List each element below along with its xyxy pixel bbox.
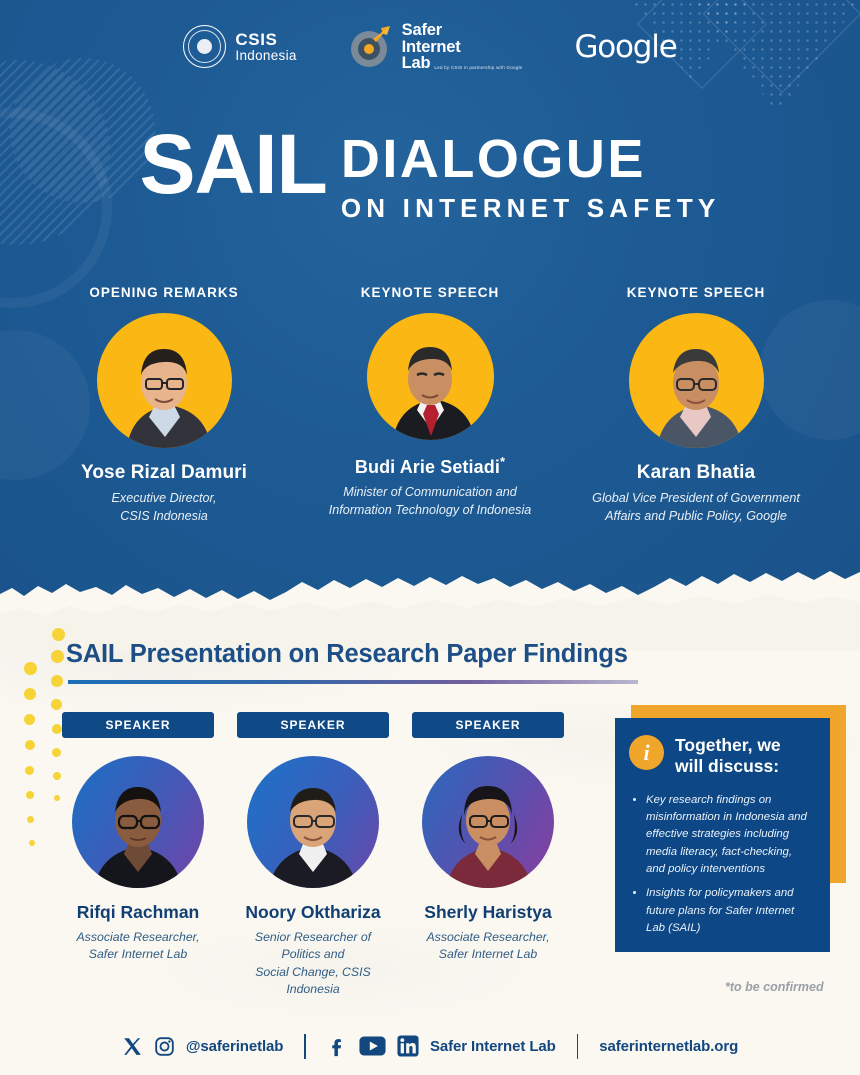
youtube-icon[interactable] [359, 1036, 386, 1056]
role-label: OPENING REMARKS [35, 285, 293, 300]
speaker-title: Global Vice President of Government Affa… [567, 490, 825, 526]
presentation-heading: SAIL Presentation on Research Paper Find… [66, 640, 628, 669]
panel-speaker-card-3: SPEAKER Sherly Haristya Associate Resear… [412, 712, 564, 999]
panel-speaker-title: Senior Researcher of Politics and Social… [237, 929, 389, 999]
discuss-bullet-list: Key research findings on misinformation … [633, 792, 814, 938]
target-arrow-icon [349, 25, 393, 69]
panel-speaker-title: Associate Researcher, Safer Internet Lab [62, 929, 214, 964]
footer-divider [304, 1034, 306, 1059]
sil-line3: Lab [402, 55, 431, 72]
csis-logo-line2: Indonesia [235, 49, 296, 63]
discuss-bullet: Key research findings on misinformation … [646, 792, 814, 879]
speaker-avatar [629, 313, 764, 448]
heading-underline [68, 680, 638, 684]
logo-row: CSIS Indonesia Safer Internet Lab Led by… [0, 22, 860, 72]
event-title: SAIL DIALOGUE ON INTERNET SAFETY [0, 126, 860, 221]
x-twitter-icon[interactable] [122, 1036, 143, 1057]
sil-line1: Safer [402, 22, 523, 39]
discuss-box: i Together, we will discuss: Key researc… [615, 718, 830, 952]
discuss-bullet: Insights for policymakers and future pla… [646, 885, 814, 937]
panel-speaker-name: Noory Okthariza [237, 902, 389, 923]
keynote-speaker-row: OPENING REMARKS Yose Rizal Damuri Execut… [0, 285, 860, 526]
title-tagline: ON INTERNET SAFETY [341, 195, 721, 221]
panel-speaker-name: Rifqi Rachman [62, 902, 214, 923]
social-handle: @saferinetlab [186, 1038, 284, 1055]
website-url[interactable]: saferinternetlab.org [599, 1038, 738, 1055]
speaker-name: Karan Bhatia [567, 462, 825, 484]
panel-speaker-row: SPEAKER Rifqi Rachman Associate Research… [62, 712, 564, 999]
speaker-avatar [97, 313, 232, 448]
speaker-badge: SPEAKER [62, 712, 214, 738]
safer-internet-lab-logo: Safer Internet Lab Led by CSIS in partne… [349, 22, 523, 72]
footer-divider-2 [577, 1034, 579, 1059]
panel-speaker-avatar [72, 756, 204, 888]
panel-speaker-avatar [422, 756, 554, 888]
footer-bar: @saferinetlab Safer Internet Lab saferin… [0, 1017, 860, 1075]
csis-seal-icon [183, 25, 226, 68]
panel-speaker-avatar [247, 756, 379, 888]
discuss-title: Together, we will discuss: [675, 735, 781, 778]
hero-section: CSIS Indonesia Safer Internet Lab Led by… [0, 0, 860, 625]
instagram-icon[interactable] [154, 1036, 175, 1057]
speaker-title: Executive Director, CSIS Indonesia [35, 490, 293, 526]
google-logo: Google [574, 29, 676, 65]
panel-speaker-card-2: SPEAKER Noory Okthariza Senior Researche… [237, 712, 389, 999]
footnote-to-be-confirmed: *to be confirmed [725, 980, 824, 994]
torn-paper-edge [0, 560, 860, 650]
info-icon: i [629, 735, 664, 770]
panel-speaker-card: SPEAKER Rifqi Rachman Associate Research… [62, 712, 214, 999]
panel-speaker-title: Associate Researcher, Safer Internet Lab [412, 929, 564, 964]
keynote-speaker-card-2: KEYNOTE SPEECH Budi Arie Setiadi* Minist… [301, 285, 559, 520]
speaker-title: Minister of Communication and Informatio… [301, 484, 559, 520]
title-sail: SAIL [140, 126, 327, 203]
speaker-badge: SPEAKER [412, 712, 564, 738]
yellow-dot-decoration [8, 628, 68, 878]
role-label: KEYNOTE SPEECH [301, 285, 559, 300]
title-dialogue: DIALOGUE [341, 132, 646, 186]
facebook-icon[interactable] [327, 1035, 348, 1058]
csis-logo-line1: CSIS [235, 31, 296, 49]
sil-line2: Internet [402, 39, 523, 56]
keynote-speaker-card-3: KEYNOTE SPEECH Karan Bhatia Global Vice … [567, 285, 825, 526]
page-name: Safer Internet Lab [430, 1038, 556, 1055]
speaker-name: Budi Arie Setiadi* [301, 454, 559, 478]
keynote-speaker-card: OPENING REMARKS Yose Rizal Damuri Execut… [35, 285, 293, 526]
role-label: KEYNOTE SPEECH [567, 285, 825, 300]
speaker-avatar [367, 313, 494, 440]
csis-logo: CSIS Indonesia [183, 25, 296, 68]
speaker-name: Yose Rizal Damuri [35, 462, 293, 484]
sil-fineprint: Led by CSIS in partnership with Google [434, 65, 522, 71]
speaker-badge: SPEAKER [237, 712, 389, 738]
panel-speaker-name: Sherly Haristya [412, 902, 564, 923]
tbc-asterisk: * [500, 454, 505, 469]
linkedin-icon[interactable] [397, 1035, 419, 1057]
